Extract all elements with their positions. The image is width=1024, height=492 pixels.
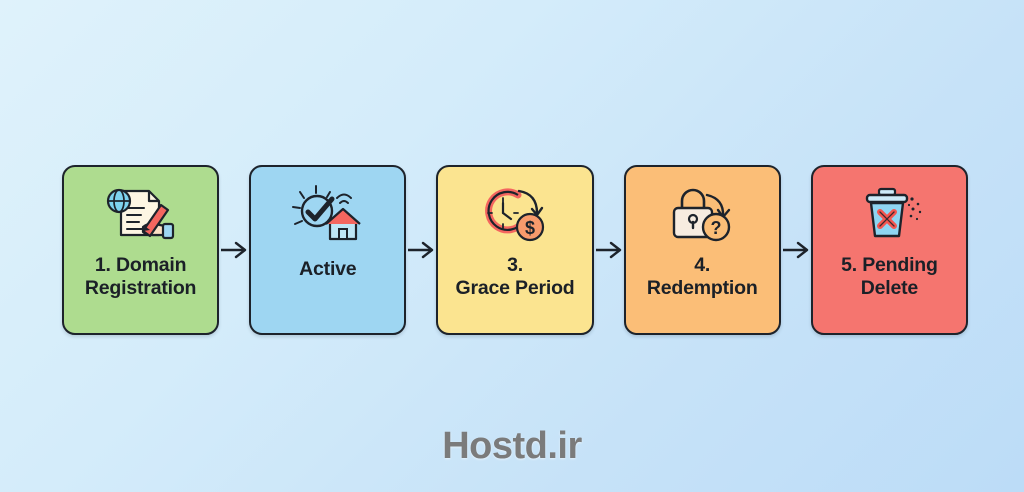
stage-domain-registration[interactable]: 1. Domain Registration [62, 165, 219, 335]
stage-label-line: Redemption [630, 277, 775, 300]
trash-delete-icon [847, 181, 931, 247]
right-arrow-icon-2 [406, 238, 436, 262]
diagram-canvas: 1. Domain Registration [0, 0, 1024, 492]
stage-label-line: 3. [442, 254, 587, 277]
clock-dollar-icon: $ [473, 181, 557, 247]
stage-label-line: 1. Domain [68, 254, 213, 277]
document-signing-icon [99, 181, 183, 247]
watermark-text: Hostd.ir [0, 425, 1024, 468]
stage-label-line: Grace Period [442, 277, 587, 300]
stage-label-pending-delete: 5. Pending Delete [813, 254, 966, 300]
stage-active[interactable]: Active [249, 165, 406, 335]
svg-text:?: ? [711, 218, 722, 238]
stage-label-domain-registration: 1. Domain Registration [64, 254, 217, 300]
stage-label-line: Active [255, 258, 400, 281]
right-arrow-icon-3 [594, 238, 624, 262]
stage-label-redemption: 4. Redemption [626, 254, 779, 300]
right-arrow-icon-4 [781, 238, 811, 262]
check-circle-house-icon [286, 181, 370, 247]
stage-redemption[interactable]: ? 4. Redemption [624, 165, 781, 335]
right-arrow-icon-1 [219, 238, 249, 262]
stage-label-line: 5. Pending [817, 254, 962, 277]
stage-label-active: Active [251, 258, 404, 281]
stage-grace-period[interactable]: $ 3. Grace Period [436, 165, 593, 335]
stage-label-line: Delete [817, 277, 962, 300]
stage-label-line: 4. [630, 254, 775, 277]
stage-label-grace-period: 3. Grace Period [438, 254, 591, 300]
stage-pending-delete[interactable]: 5. Pending Delete [811, 165, 968, 335]
svg-text:$: $ [525, 218, 535, 238]
lock-question-icon: ? [660, 181, 744, 247]
stage-label-line: Registration [68, 277, 213, 300]
lifecycle-flow: 1. Domain Registration [62, 165, 968, 335]
